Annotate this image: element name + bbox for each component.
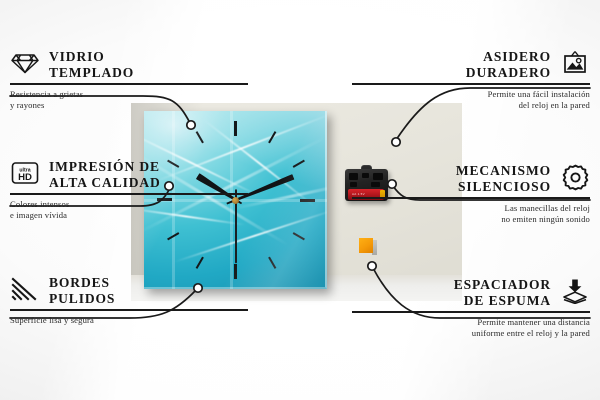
connector-dot-espaciador: [368, 262, 376, 270]
feature-divider: [10, 83, 248, 85]
feature-title-line1: IMPRESIÓN DE: [49, 159, 248, 175]
feature-description-line1: Permite una fácil instalación: [352, 89, 590, 100]
feature-description-line1: Las manecillas del reloj: [352, 203, 590, 214]
feature-description: Resistencia a grietas y rayones: [10, 89, 248, 111]
feature-description-line2: uniforme entre el reloj y la pared: [352, 328, 590, 339]
gear-icon: [560, 163, 590, 191]
feature-title-line2: SILENCIOSO: [352, 179, 551, 195]
feature-description: Permite mantener una distancia uniforme …: [352, 317, 590, 339]
connector-dot-vidrio-templado: [187, 121, 195, 129]
feature-description-line2: no emiten ningún sonido: [352, 214, 590, 225]
feature-title-line1: ASIDERO: [352, 49, 551, 65]
feature-title-line1: BORDES: [49, 275, 248, 291]
feature-description-line2: e imagen vívida: [10, 210, 248, 221]
feature-impresion-alta-calidad: ultra HD IMPRESIÓN DE ALTA CALIDAD Color…: [10, 159, 248, 221]
feature-description: Colores intensos e imagen vívida: [10, 199, 248, 221]
picture-hanger-icon: [560, 49, 590, 77]
feature-divider: [352, 311, 590, 313]
feature-espaciador-de-espuma: ESPACIADOR DE ESPUMA Permite mantener un…: [352, 277, 590, 339]
feature-bordes-pulidos: BORDES PULIDOS Superficie lisa y segura: [10, 275, 248, 326]
feature-description: Superficie lisa y segura: [10, 315, 248, 326]
infographic-canvas: AA 1.5V: [0, 0, 600, 400]
feature-title-line2: PULIDOS: [49, 291, 248, 307]
feature-description-line2: del reloj en la pared: [352, 100, 590, 111]
feature-divider: [10, 193, 248, 195]
feature-description-line1: Superficie lisa y segura: [10, 315, 248, 326]
feature-description-line2: y rayones: [10, 100, 248, 111]
feature-title-line1: ESPACIADOR: [352, 277, 551, 293]
diamond-icon: [10, 49, 40, 77]
feature-mecanismo-silencioso: MECANISMO SILENCIOSO Las manecillas del …: [352, 163, 590, 225]
connector-dot-asidero: [392, 138, 400, 146]
feature-vidrio-templado: VIDRIO TEMPLADO Resistencia a grietas y …: [10, 49, 248, 111]
feature-title-line2: DURADERO: [352, 65, 551, 81]
feature-divider: [352, 197, 590, 199]
feature-description-line1: Colores intensos: [10, 199, 248, 210]
polished-edges-icon: [10, 275, 40, 303]
press-layers-icon: [560, 277, 590, 305]
feature-title-line1: MECANISMO: [352, 163, 551, 179]
feature-title-line2: TEMPLADO: [49, 65, 248, 81]
feature-description-line1: Permite mantener una distancia: [352, 317, 590, 328]
feature-title-line2: DE ESPUMA: [352, 293, 551, 309]
feature-divider: [10, 309, 248, 311]
feature-divider: [352, 83, 590, 85]
feature-description: Las manecillas del reloj no emiten ningú…: [352, 203, 590, 225]
feature-description-line1: Resistencia a grietas: [10, 89, 248, 100]
ultra-hd-icon: ultra HD: [10, 159, 40, 187]
feature-description: Permite una fácil instalación del reloj …: [352, 89, 590, 111]
feature-title-line1: VIDRIO: [49, 49, 248, 65]
svg-text:HD: HD: [18, 172, 32, 183]
feature-asidero-duradero: ASIDERO DURADERO Permite una fácil insta…: [352, 49, 590, 111]
feature-title-line2: ALTA CALIDAD: [49, 175, 248, 191]
